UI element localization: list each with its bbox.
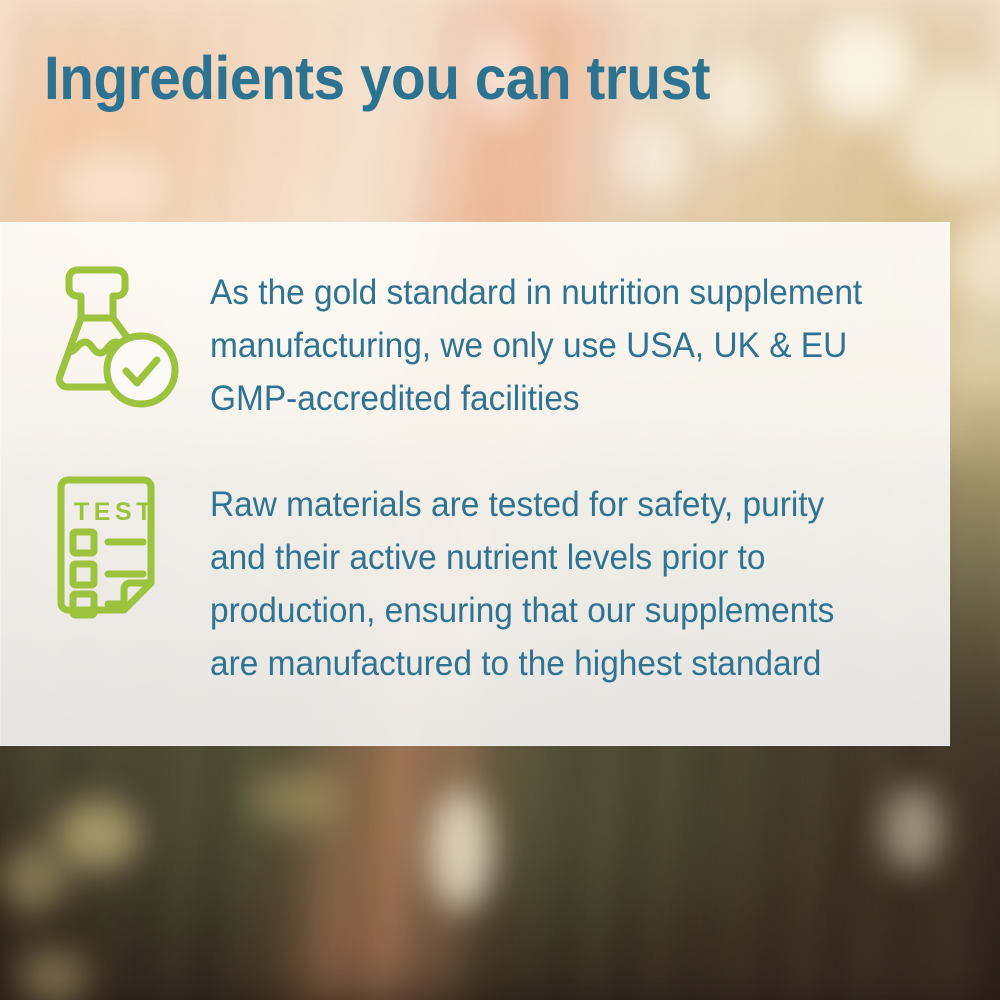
- bokeh-highlight: [950, 214, 1000, 314]
- bokeh-highlight: [250, 770, 340, 828]
- bokeh-highlight: [944, 300, 1000, 392]
- promo-banner: Ingredients you can trust A: [0, 0, 1000, 1000]
- feature-item-testing: TEST Raw materials are tested for safety…: [56, 472, 920, 691]
- bokeh-highlight: [618, 120, 688, 198]
- flask-check-icon: [56, 260, 176, 400]
- test-document-icon: TEST: [56, 472, 176, 612]
- bokeh-highlight: [700, 60, 776, 144]
- bokeh-highlight: [898, 70, 1000, 196]
- feature-text-testing: Raw materials are tested for safety, pur…: [210, 472, 888, 691]
- bokeh-highlight: [22, 948, 88, 1000]
- bokeh-highlight: [0, 846, 70, 910]
- bokeh-highlight: [812, 18, 916, 122]
- bokeh-highlight: [54, 800, 140, 870]
- test-document-heading: TEST: [74, 498, 156, 526]
- feature-item-manufacturing: As the gold standard in nutrition supple…: [56, 260, 920, 426]
- bokeh-highlight: [884, 786, 942, 872]
- feature-list: As the gold standard in nutrition supple…: [0, 222, 950, 746]
- page-title: Ingredients you can trust: [44, 46, 710, 110]
- bokeh-highlight: [430, 790, 492, 910]
- feature-text-manufacturing: As the gold standard in nutrition supple…: [210, 260, 888, 426]
- bokeh-highlight: [56, 150, 166, 222]
